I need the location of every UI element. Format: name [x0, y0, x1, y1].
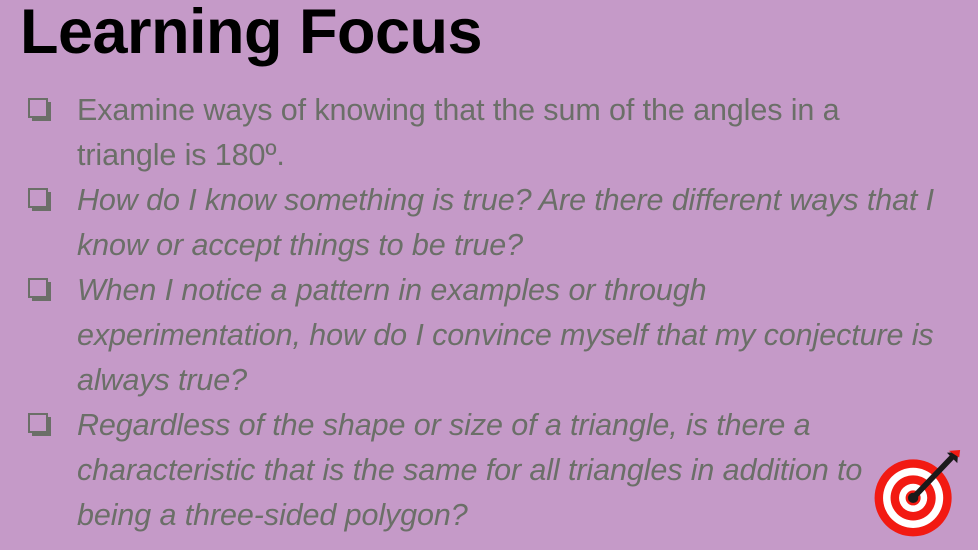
list-item: How do I know something is true? Are the…	[28, 178, 938, 268]
list-item-text: Examine ways of knowing that the sum of …	[77, 88, 938, 178]
target-dartboard-icon	[868, 449, 962, 543]
list-item-text: When I notice a pattern in examples or t…	[77, 268, 938, 403]
list-item: Regardless of the shape or size of a tri…	[28, 403, 938, 538]
shadowed-square-bullet-icon	[28, 188, 52, 213]
list-item: When I notice a pattern in examples or t…	[28, 268, 938, 403]
list-item-text: How do I know something is true? Are the…	[77, 178, 938, 268]
shadowed-square-bullet-icon	[28, 278, 52, 303]
shadowed-square-bullet-icon	[28, 413, 52, 438]
page-title: Learning Focus	[20, 0, 482, 68]
list-item-text: Regardless of the shape or size of a tri…	[77, 403, 938, 538]
learning-focus-bullet-list: Examine ways of knowing that the sum of …	[28, 88, 938, 538]
slide: Learning Focus Examine ways of knowing t…	[0, 0, 978, 550]
shadowed-square-bullet-icon	[28, 98, 52, 123]
list-item: Examine ways of knowing that the sum of …	[28, 88, 938, 178]
